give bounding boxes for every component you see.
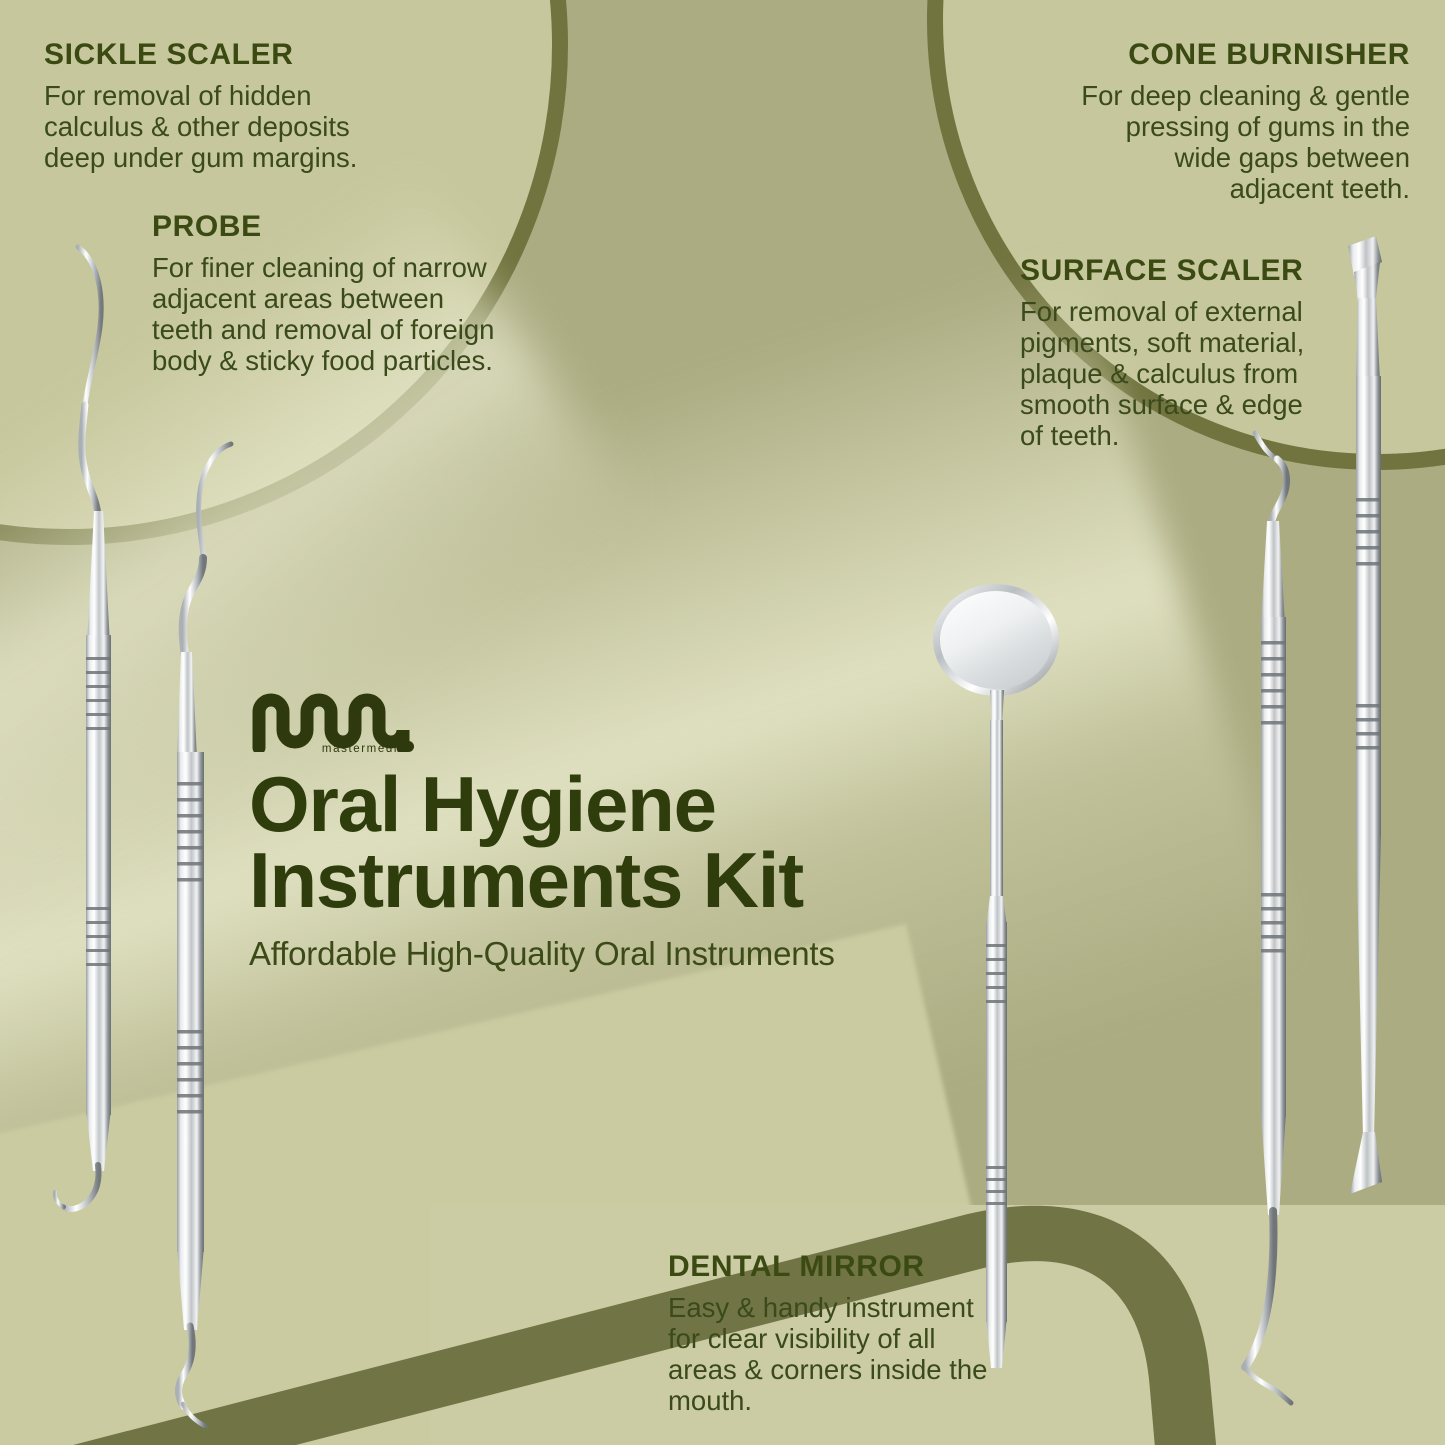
- mastermedi-wordmark: mastermedi: [322, 743, 398, 755]
- page-title-line-2: Instruments Kit: [249, 842, 889, 918]
- callout-body-cone-burnisher: For deep cleaning & gentle pressing of g…: [1070, 80, 1410, 204]
- callout-body-sickle-scaler: For removal of hidden calculus & other d…: [44, 80, 389, 173]
- callout-body-probe: For finer cleaning of narrow adjacent ar…: [152, 252, 497, 376]
- callout-cone-burnisher: CONE BURNISHER For deep cleaning & gentl…: [1070, 40, 1410, 204]
- callout-heading-probe: PROBE: [152, 212, 497, 242]
- page-title-line-1: Oral Hygiene: [249, 766, 889, 842]
- callout-heading-surface-scaler: SURFACE SCALER: [1020, 256, 1330, 286]
- callout-probe: PROBE For finer cleaning of narrow adjac…: [152, 212, 497, 376]
- page-title: Oral Hygiene Instruments Kit: [249, 766, 889, 919]
- brand-title-block: mastermedi Oral Hygiene Instruments Kit …: [249, 690, 889, 973]
- page-subtitle: Affordable High-Quality Oral Instruments: [249, 935, 889, 973]
- callout-body-surface-scaler: For removal of external pigments, soft m…: [1020, 296, 1330, 451]
- product-infographic: SICKLE SCALER For removal of hidden calc…: [0, 0, 1445, 1445]
- callout-sickle-scaler: SICKLE SCALER For removal of hidden calc…: [44, 40, 389, 173]
- mastermedi-logo: mastermedi: [249, 690, 414, 752]
- callout-body-dental-mirror: Easy & handy instrument for clear visibi…: [668, 1292, 1008, 1416]
- callout-dental-mirror: DENTAL MIRROR Easy & handy instrument fo…: [668, 1252, 1008, 1416]
- logo-dot-icon: [403, 741, 414, 752]
- callout-heading-cone-burnisher: CONE BURNISHER: [1070, 40, 1410, 70]
- cone-burnisher-instrument: [1320, 232, 1445, 1232]
- callout-heading-sickle-scaler: SICKLE SCALER: [44, 40, 389, 70]
- callout-surface-scaler: SURFACE SCALER For removal of external p…: [1020, 256, 1330, 451]
- callout-heading-dental-mirror: DENTAL MIRROR: [668, 1252, 1008, 1282]
